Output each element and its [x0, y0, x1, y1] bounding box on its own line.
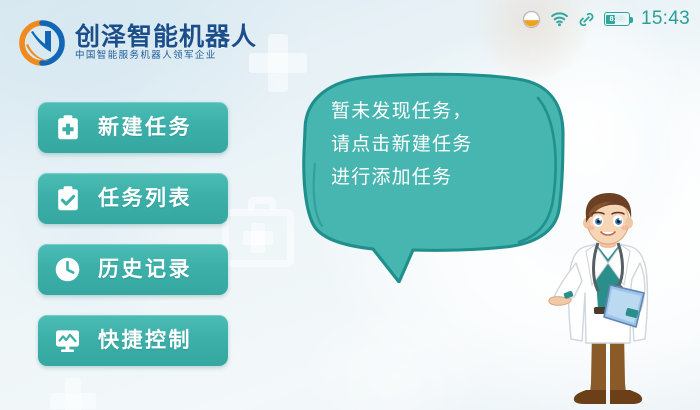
clipboard-check-icon — [54, 185, 81, 212]
chuangze-swoosh-logo-icon — [17, 18, 67, 68]
bubble-line: 进行添加任务 — [331, 168, 546, 188]
weather-sun-icon[interactable] — [522, 10, 541, 29]
bubble-line: 请点击新建任务 — [331, 135, 546, 155]
status-bar: 81% 15:43 — [522, 7, 690, 31]
brand-subtitle: 中国智能服务机器人领军企业 — [75, 51, 257, 61]
menu-button-quick-control[interactable]: 快捷控制 — [38, 315, 228, 366]
battery-icon[interactable]: 81% — [604, 12, 630, 26]
menu-button-new-task[interactable]: 新建任务 — [38, 102, 228, 153]
clock-label: 15:43 — [641, 8, 690, 30]
medical-bag-watermark — [222, 209, 294, 267]
clock-icon — [54, 256, 81, 283]
menu-button-label: 快捷控制 — [98, 330, 192, 351]
robot-home-screen: 81% 15:43 创泽智能机器人 中国智能服务机器人领军企业 — [0, 0, 700, 410]
medical-cross-watermark — [268, 34, 288, 92]
link-connected-icon[interactable] — [578, 11, 595, 28]
brand-logo: 创泽智能机器人 中国智能服务机器人领军企业 — [17, 18, 257, 68]
wifi-icon[interactable] — [550, 11, 569, 27]
speech-bubble-text: 暂未发现任务， 请点击新建任务 进行添加任务 — [331, 102, 546, 188]
menu-button-label: 历史记录 — [98, 259, 192, 280]
doctor-avatar — [548, 193, 668, 410]
menu-button-label: 任务列表 — [98, 188, 192, 209]
medical-cross-watermark — [65, 378, 81, 410]
clipboard-plus-icon — [54, 114, 81, 141]
battery-percent-label: 81% — [605, 15, 629, 23]
speech-bubble: 暂未发现任务， 请点击新建任务 进行添加任务 — [291, 68, 569, 283]
monitor-chart-icon — [54, 327, 81, 354]
menu-button-label: 新建任务 — [98, 117, 192, 138]
background-glow-center — [300, 300, 490, 410]
menu-button-task-list[interactable]: 任务列表 — [38, 173, 228, 224]
main-menu: 新建任务 任务列表 历史记录 — [38, 102, 228, 366]
menu-button-history[interactable]: 历史记录 — [38, 244, 228, 295]
bubble-line: 暂未发现任务， — [331, 102, 546, 122]
brand-title: 创泽智能机器人 — [75, 24, 257, 50]
